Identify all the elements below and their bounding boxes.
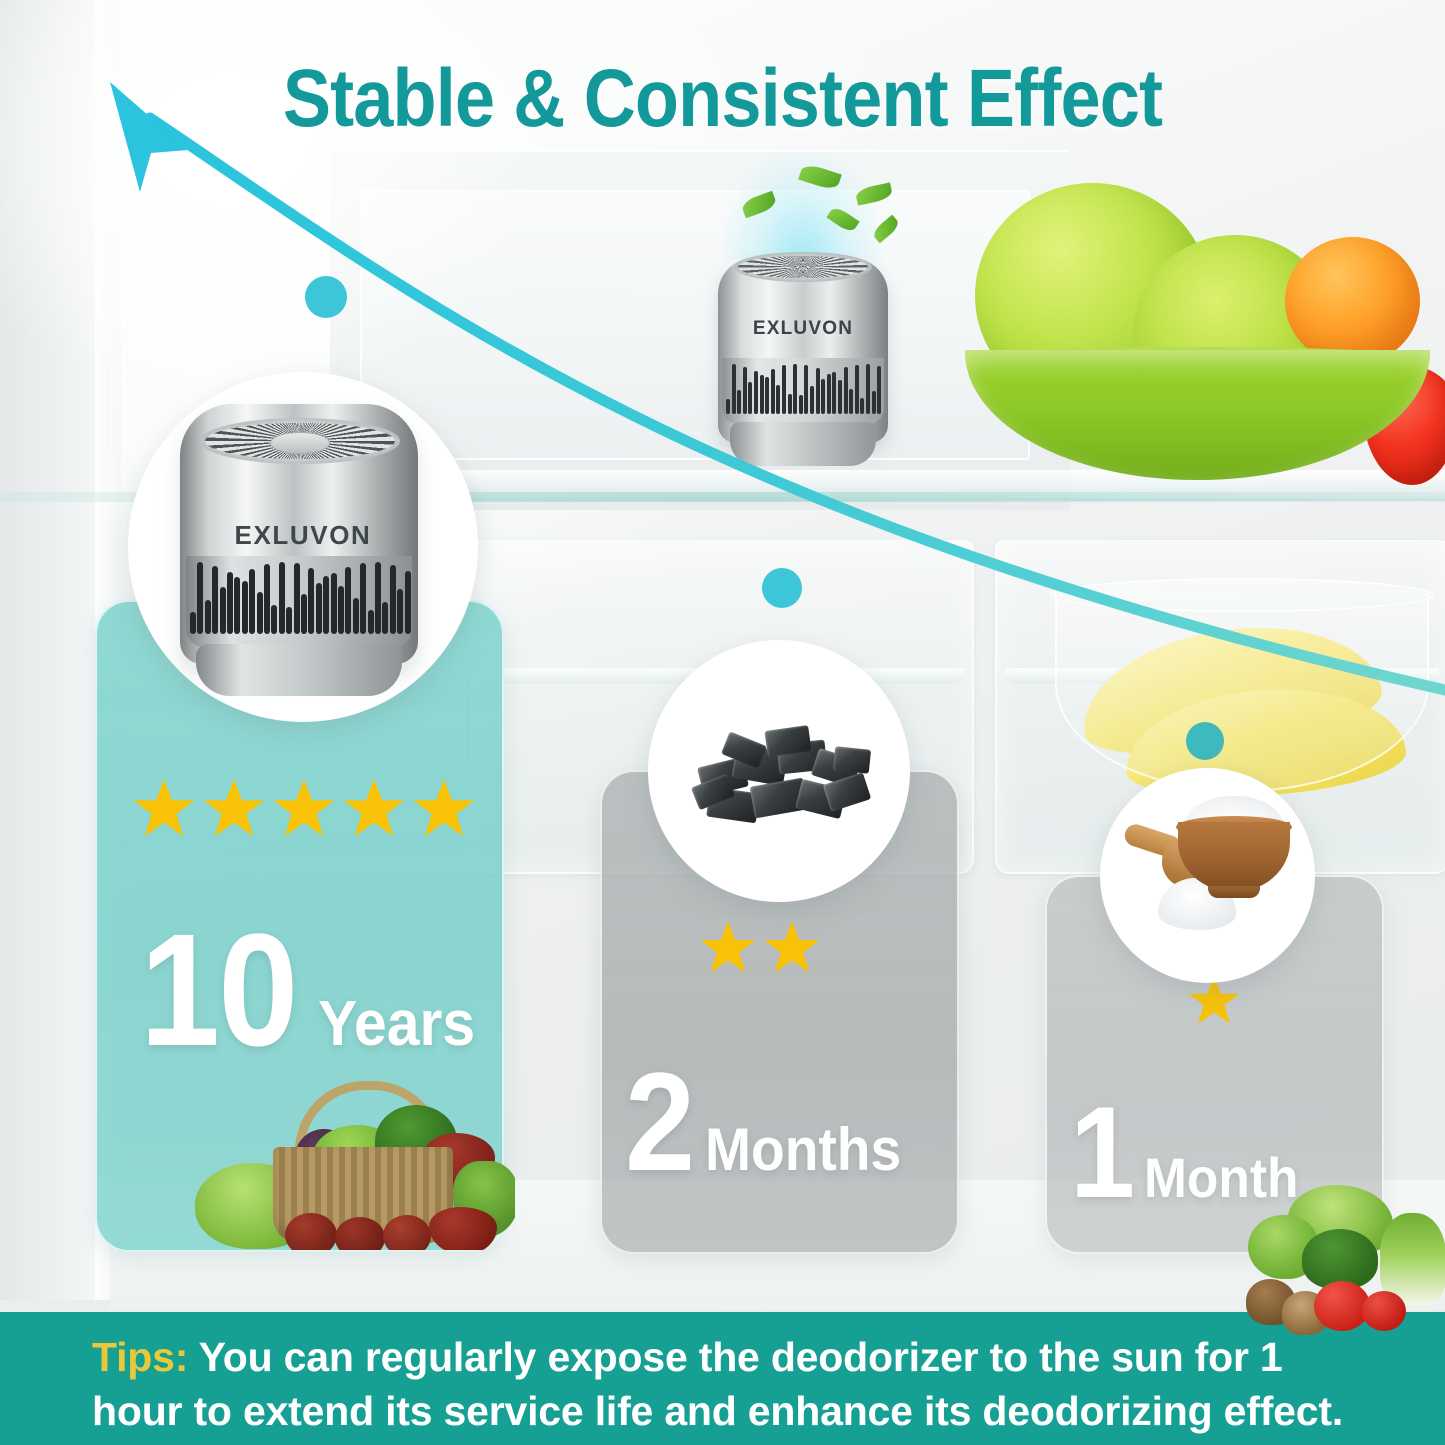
wooden-bowl-foot bbox=[1208, 886, 1260, 898]
tomato-icon bbox=[285, 1213, 337, 1250]
deodorizer-slot-vents bbox=[722, 358, 884, 424]
fruit-bowl-group bbox=[955, 165, 1435, 495]
lifespan-number: 10 bbox=[140, 920, 297, 1061]
hero-brand-label: EXLUVON bbox=[718, 318, 888, 340]
tomato-icon bbox=[383, 1215, 431, 1250]
star-icon bbox=[413, 778, 475, 840]
charcoal-circle-image bbox=[648, 640, 910, 902]
tips-banner: Tips: You can regularly expose the deodo… bbox=[0, 1312, 1445, 1445]
infographic-canvas: EXLUVON bbox=[0, 0, 1445, 1445]
deodorizer-circle-image: EXLUVON bbox=[128, 372, 478, 722]
product-brand-label: EXLUVON bbox=[128, 520, 478, 551]
tomato-icon bbox=[1362, 1291, 1406, 1331]
star-icon bbox=[203, 778, 265, 840]
curve-marker-2 bbox=[762, 568, 802, 608]
lifespan-charcoal: 2Months bbox=[625, 1060, 918, 1184]
lifespan-unit: Years bbox=[318, 986, 475, 1060]
star-icon bbox=[133, 778, 195, 840]
lifespan-unit: Months bbox=[705, 1115, 901, 1184]
hero-deodorizer: EXLUVON bbox=[718, 240, 888, 470]
lifespan-number: 1 bbox=[1070, 1095, 1133, 1209]
vegetable-basket-image bbox=[185, 1055, 515, 1250]
deodorizer-cap bbox=[270, 432, 330, 454]
tips-label: Tips: bbox=[92, 1334, 188, 1380]
deodorizer-slot-vents bbox=[186, 556, 412, 648]
tips-text-block: Tips: You can regularly expose the deodo… bbox=[92, 1330, 1372, 1438]
tips-body: You can regularly expose the deodorizer … bbox=[92, 1334, 1343, 1434]
red-pepper-icon bbox=[429, 1207, 497, 1250]
curve-marker-3 bbox=[1186, 722, 1224, 760]
deodorizer-base bbox=[730, 422, 876, 466]
curve-marker-1 bbox=[305, 276, 347, 318]
rating-stars-charcoal bbox=[700, 920, 820, 976]
vegetable-cluster-image bbox=[1240, 1185, 1445, 1335]
deodorizer-base bbox=[196, 644, 402, 696]
page-title: Stable & Consistent Effect bbox=[87, 52, 1359, 146]
deodorizer-vent-top bbox=[734, 252, 872, 282]
star-icon bbox=[343, 778, 405, 840]
charcoal-chunks-icon bbox=[694, 724, 872, 829]
star-icon bbox=[273, 778, 335, 840]
lifespan-deodorizer: 10Years bbox=[140, 920, 489, 1061]
orange-fruit-icon bbox=[1285, 237, 1420, 365]
star-icon bbox=[764, 920, 820, 976]
broccoli-icon bbox=[1302, 1229, 1378, 1289]
green-bowl-icon bbox=[965, 350, 1430, 480]
lifespan-number: 2 bbox=[625, 1060, 693, 1183]
star-icon bbox=[700, 920, 756, 976]
baking-soda-circle-image bbox=[1100, 768, 1315, 983]
rating-stars-deodorizer bbox=[133, 778, 475, 840]
